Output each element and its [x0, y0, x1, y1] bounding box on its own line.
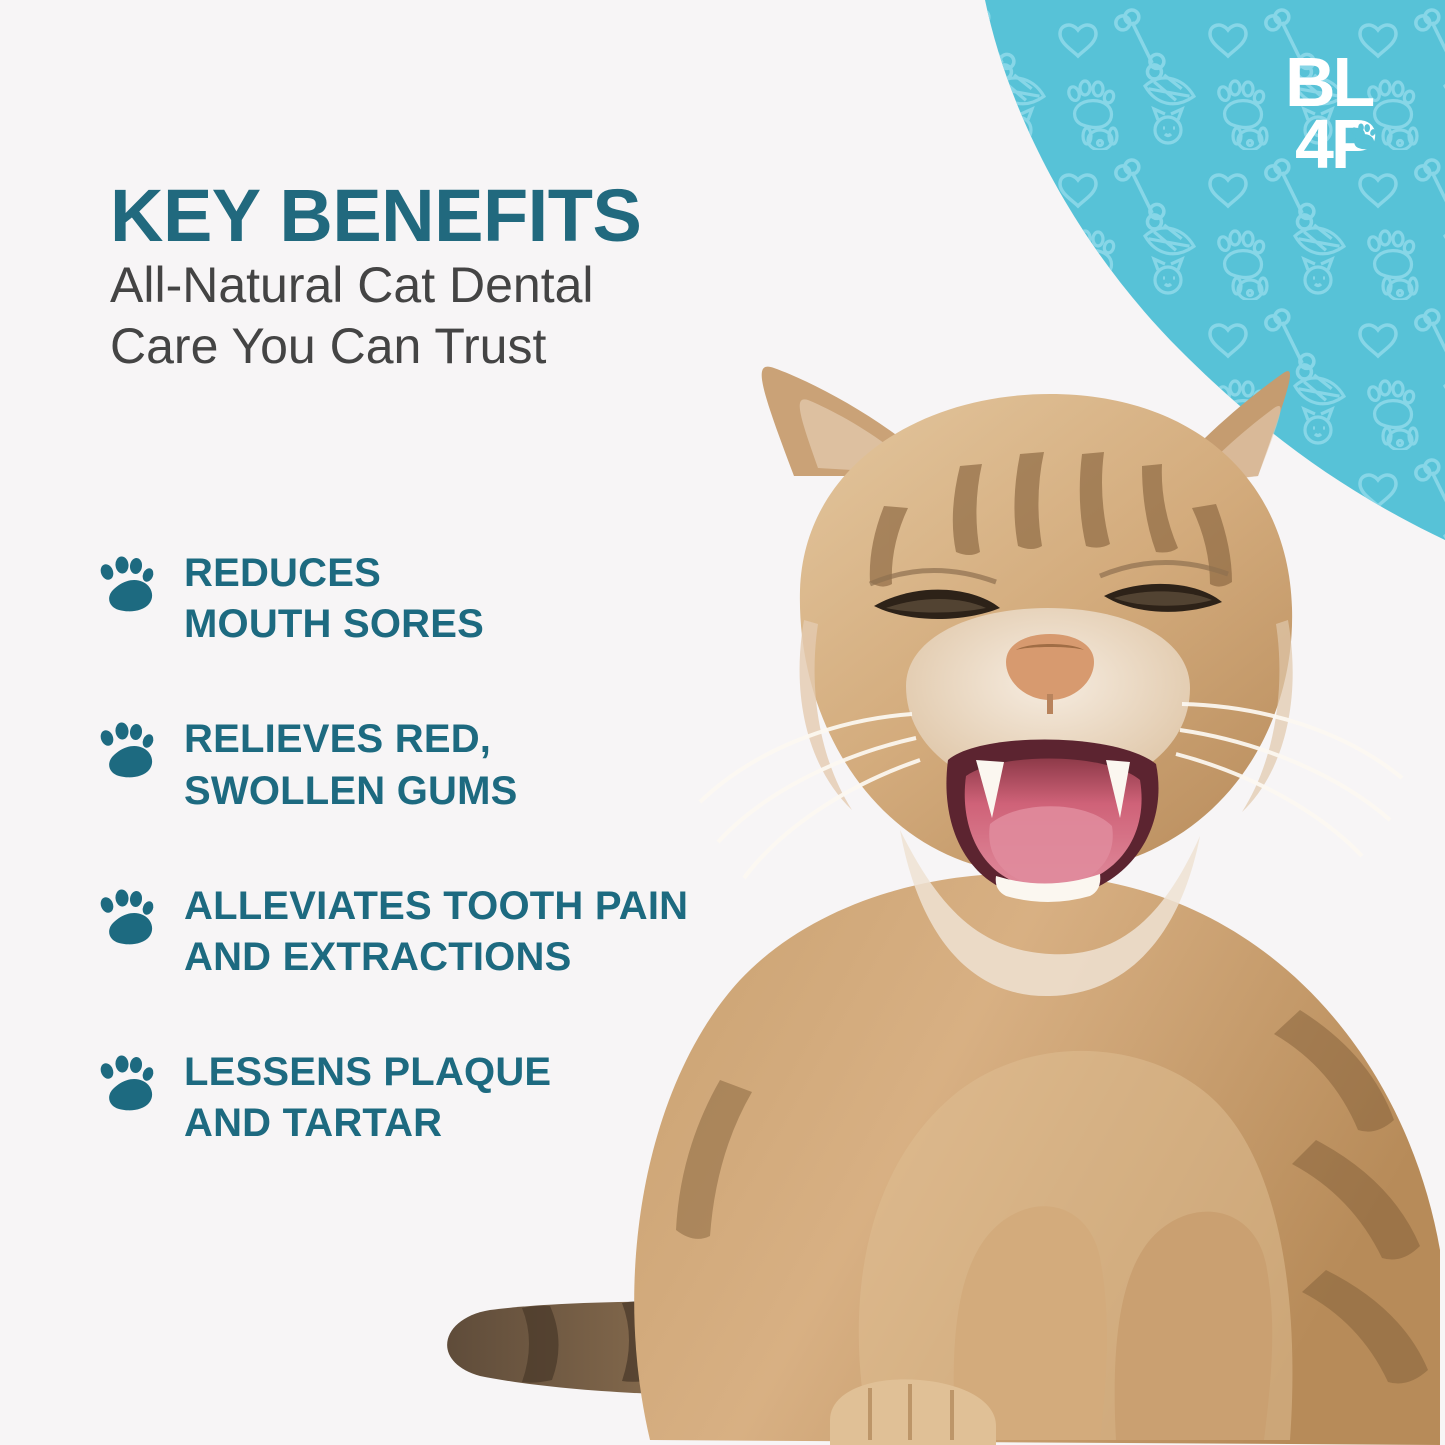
cat-mouth	[946, 739, 1158, 902]
paw-icon	[100, 556, 156, 612]
paw-icon	[100, 722, 156, 778]
benefits-list: REDUCES MOUTH SORES RELIEVES RED,	[100, 548, 860, 1150]
benefit-text: RELIEVES RED, SWOLLEN GUMS	[184, 714, 518, 816]
page-subtitle-line2: Care You Can Trust	[110, 316, 594, 377]
benefit-text: ALLEVIATES TOOTH PAIN AND EXTRACTIONS	[184, 881, 688, 983]
benefit-line1: REDUCES	[184, 548, 484, 599]
page-subtitle: All-Natural Cat Dental Care You Can Trus…	[110, 255, 594, 377]
benefit-line1: LESSENS PLAQUE	[184, 1047, 551, 1098]
benefit-item-2: RELIEVES RED, SWOLLEN GUMS	[100, 714, 860, 816]
benefit-line1: ALLEVIATES TOOTH PAIN	[184, 881, 688, 932]
benefit-line2: AND TARTAR	[184, 1098, 551, 1149]
paw-icon	[100, 1055, 156, 1111]
benefit-text: REDUCES MOUTH SORES	[184, 548, 484, 650]
cat-tail	[447, 1301, 960, 1396]
benefit-line1: RELIEVES RED,	[184, 714, 518, 765]
page-title: KEY BENEFITS	[110, 179, 641, 253]
benefit-line2: SWOLLEN GUMS	[184, 766, 518, 817]
bl4p-logo: BL 4P	[1283, 44, 1401, 176]
benefit-item-3: ALLEVIATES TOOTH PAIN AND EXTRACTIONS	[100, 881, 860, 983]
benefit-line2: MOUTH SORES	[184, 599, 484, 650]
paw-icon	[100, 889, 156, 945]
benefit-item-4: LESSENS PLAQUE AND TARTAR	[100, 1047, 860, 1149]
benefit-item-1: REDUCES MOUTH SORES	[100, 548, 860, 650]
cat-eyes	[870, 562, 1228, 636]
product-benefits-infographic: BL 4P	[0, 0, 1445, 1445]
benefit-line2: AND EXTRACTIONS	[184, 932, 688, 983]
benefit-text: LESSENS PLAQUE AND TARTAR	[184, 1047, 551, 1149]
page-subtitle-line1: All-Natural Cat Dental	[110, 255, 594, 316]
